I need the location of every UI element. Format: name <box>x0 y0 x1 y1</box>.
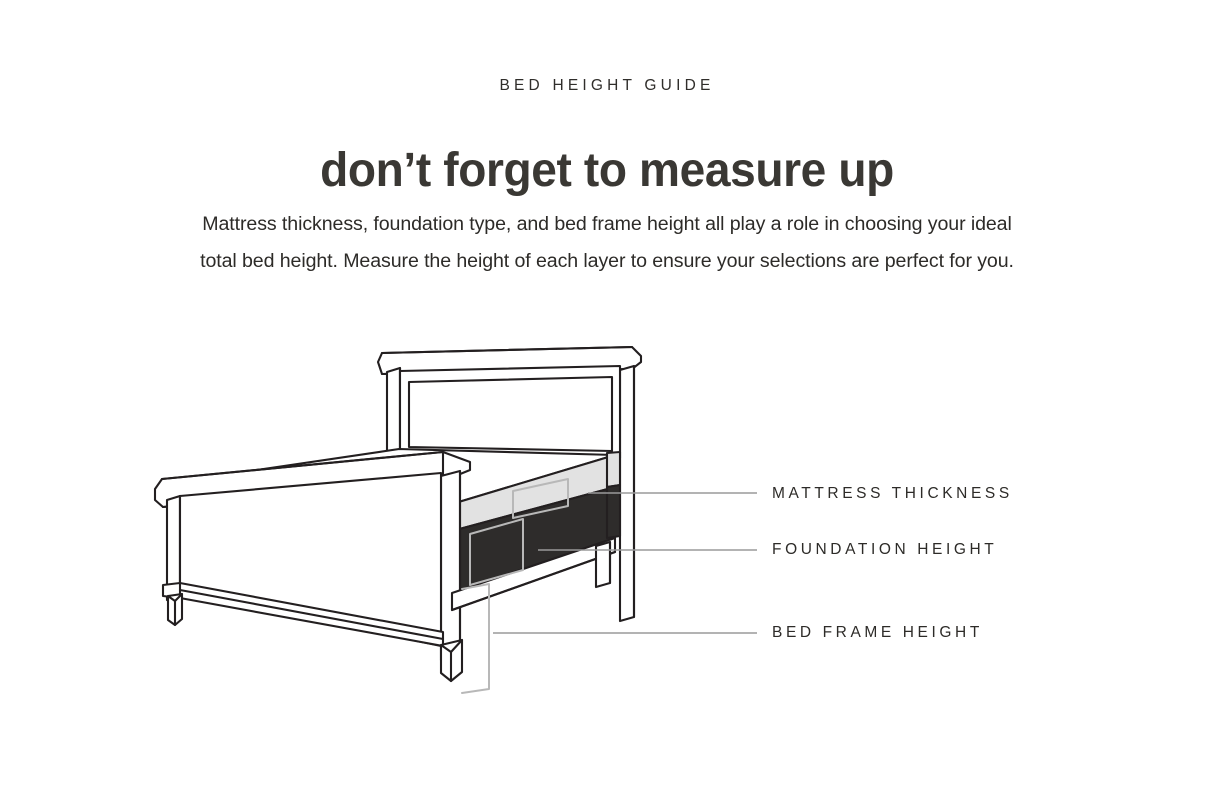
footboard-left-foot <box>168 594 182 625</box>
headboard-left-post <box>387 368 400 455</box>
callout-label-bed-frame-height: BED FRAME HEIGHT <box>772 624 983 642</box>
rear-right-leg <box>596 542 610 587</box>
mattress-right-cap <box>607 452 620 487</box>
callout-label-mattress-thickness: MATTRESS THICKNESS <box>772 485 1013 503</box>
callout-label-foundation-height: FOUNDATION HEIGHT <box>772 541 997 559</box>
bed-diagram <box>0 0 1214 810</box>
bed-height-guide-page: BED HEIGHT GUIDE don’t forget to measure… <box>0 0 1214 810</box>
headboard-panel-frame <box>400 366 620 458</box>
footboard-right-foot <box>441 640 462 681</box>
